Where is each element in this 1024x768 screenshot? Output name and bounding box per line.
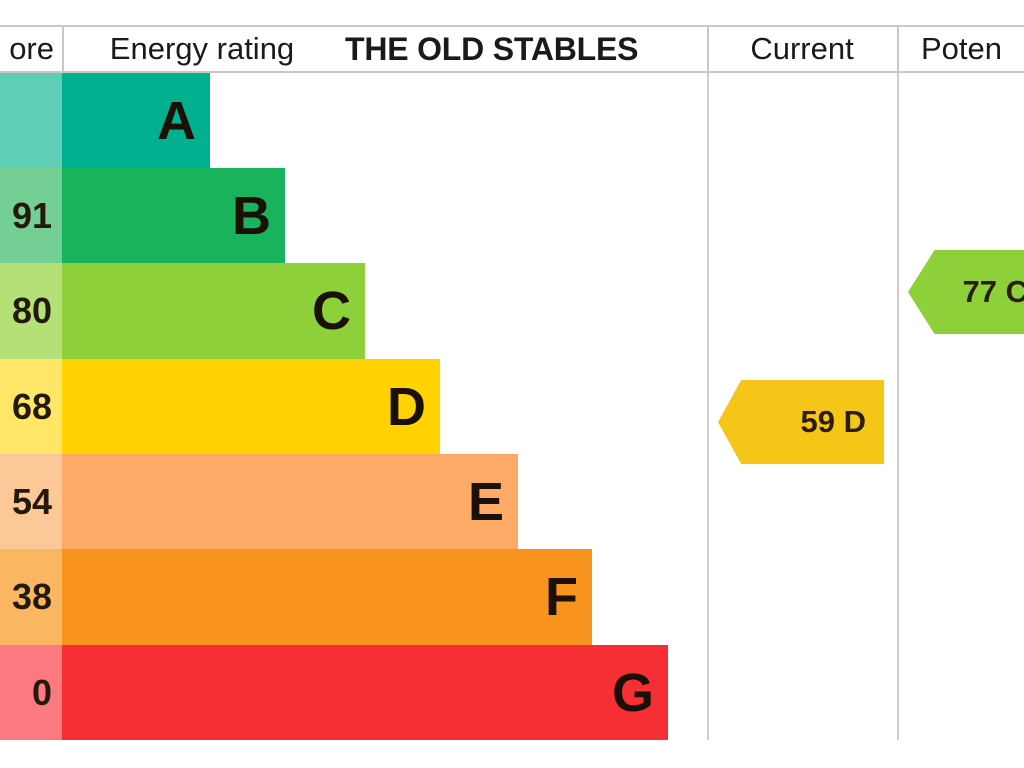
- energy-band-row-a: A: [0, 73, 1024, 168]
- potential-rating-value: 77 C: [963, 274, 1024, 310]
- band-letter: D: [387, 380, 426, 434]
- band-divider-rating-current: [707, 73, 709, 740]
- header-energy-rating-label: Energy rating: [66, 27, 338, 71]
- band-letter: E: [468, 475, 504, 529]
- band-score-value: 54: [12, 481, 52, 523]
- header-divider-current-potential: [897, 27, 899, 71]
- band-bar-f: F: [62, 549, 592, 645]
- energy-band-row-f: 38F: [0, 549, 1024, 645]
- band-score-cell-e: 54: [0, 454, 62, 549]
- header-current-label: Current: [709, 27, 895, 71]
- band-bar-a: A: [62, 73, 210, 168]
- header-potential-label: Poten: [899, 27, 1024, 71]
- band-score-cell-c: 80: [0, 263, 62, 359]
- energy-band-row-g: 0G: [0, 645, 1024, 740]
- energy-band-row-e: 54E: [0, 454, 1024, 549]
- band-bar-d: D: [62, 359, 440, 454]
- band-score-cell-a: [0, 73, 62, 168]
- band-letter: A: [157, 94, 196, 148]
- current-rating-arrow: 59 D: [718, 380, 884, 464]
- page-title: THE OLD STABLES: [345, 27, 705, 71]
- energy-band-row-c: 80C: [0, 263, 1024, 359]
- band-score-cell-f: 38: [0, 549, 62, 645]
- energy-band-row-b: 91B: [0, 168, 1024, 263]
- band-letter: C: [312, 284, 351, 338]
- header-divider-score-rating: [62, 27, 64, 71]
- header-score-label: ore: [0, 27, 62, 71]
- band-score-value: 91: [12, 195, 52, 237]
- chart-header-row: ore Energy rating THE OLD STABLES Curren…: [0, 25, 1024, 73]
- band-letter: F: [545, 570, 578, 624]
- band-letter: B: [232, 189, 271, 243]
- header-divider-rating-current: [707, 27, 709, 71]
- current-rating-value: 59 D: [801, 404, 866, 440]
- band-score-cell-d: 68: [0, 359, 62, 454]
- band-bar-c: C: [62, 263, 365, 359]
- band-letter: G: [612, 666, 654, 720]
- epc-energy-rating-chart: ore Energy rating THE OLD STABLES Curren…: [0, 0, 1024, 768]
- band-score-value: 38: [12, 576, 52, 618]
- band-score-cell-b: 91: [0, 168, 62, 263]
- band-bar-b: B: [62, 168, 285, 263]
- band-bar-e: E: [62, 454, 518, 549]
- band-divider-current-potential: [897, 73, 899, 740]
- band-score-cell-g: 0: [0, 645, 62, 740]
- band-score-value: 68: [12, 386, 52, 428]
- band-bar-g: G: [62, 645, 668, 740]
- band-score-value: 80: [12, 290, 52, 332]
- band-score-value: 0: [32, 672, 52, 714]
